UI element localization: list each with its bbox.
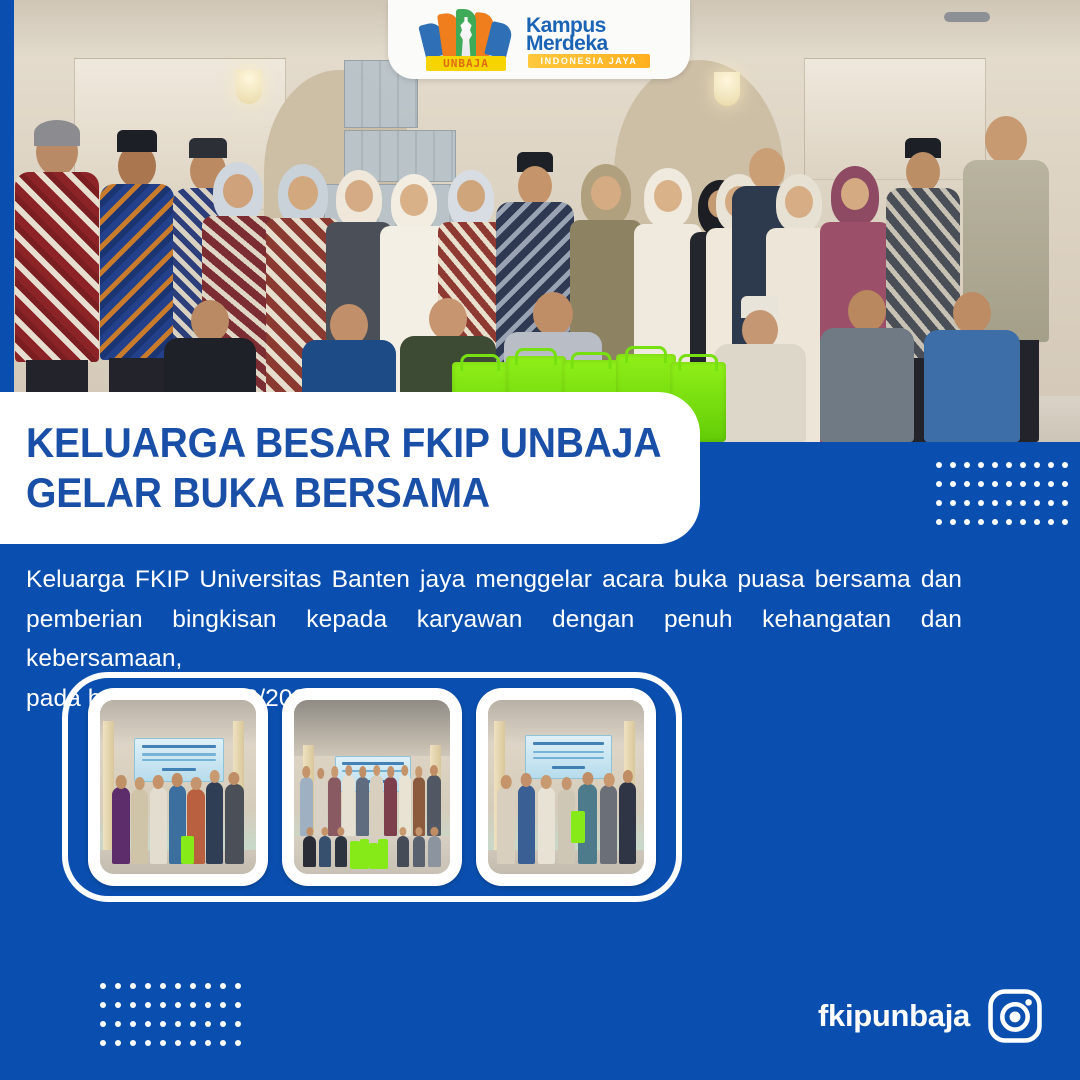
unbaja-logo-icon: UNBAJA (420, 9, 512, 71)
logo-header-pill: UNBAJA Kampus Merdeka INDONESIA JAYA (388, 0, 690, 79)
person-front (820, 284, 914, 442)
poster-canvas: UNBAJA Kampus Merdeka INDONESIA JAYA KEL… (0, 0, 1080, 1080)
instagram-icon[interactable] (986, 987, 1044, 1045)
thumbnail-row (68, 678, 676, 896)
headline-line-2: GELAR BUKA BERSAMA (26, 468, 653, 518)
dot-grid-left (100, 983, 250, 1059)
thumbnail-image-1 (100, 700, 256, 874)
body-paragraph-1: Keluarga FKIP Universitas Banten jaya me… (26, 560, 962, 679)
person-front (714, 292, 806, 442)
dot-grid-right (936, 462, 1076, 538)
thumbnail-card[interactable] (476, 688, 656, 886)
thumbnail-gallery-frame (62, 672, 682, 902)
kampus-merdeka-logo: Kampus Merdeka INDONESIA JAYA (526, 11, 658, 69)
lamp (236, 70, 262, 104)
kampus-merdeka-tagline: INDONESIA JAYA (541, 56, 638, 66)
ceiling-fan-icon (944, 12, 990, 22)
headline-panel: KELUARGA BESAR FKIP UNBAJA GELAR BUKA BE… (0, 392, 700, 544)
thumbnail-card[interactable] (88, 688, 268, 886)
instagram-handle[interactable]: fkipunbaja (818, 998, 970, 1034)
thumbnail-card[interactable] (282, 688, 462, 886)
kampus-merdeka-tagline-bar: INDONESIA JAYA (528, 54, 650, 68)
thumbnail-image-3 (488, 700, 644, 874)
lamp (714, 72, 740, 106)
person-front (924, 286, 1020, 442)
footer-social: fkipunbaja (818, 985, 1044, 1047)
thumbnail-image-2 (294, 700, 450, 874)
unbaja-wordmark-text: UNBAJA (443, 58, 489, 69)
unbaja-wordmark: UNBAJA (426, 56, 506, 71)
headline-line-1: KELUARGA BESAR FKIP UNBAJA (26, 418, 653, 468)
kampus-merdeka-line2: Merdeka (526, 32, 608, 56)
